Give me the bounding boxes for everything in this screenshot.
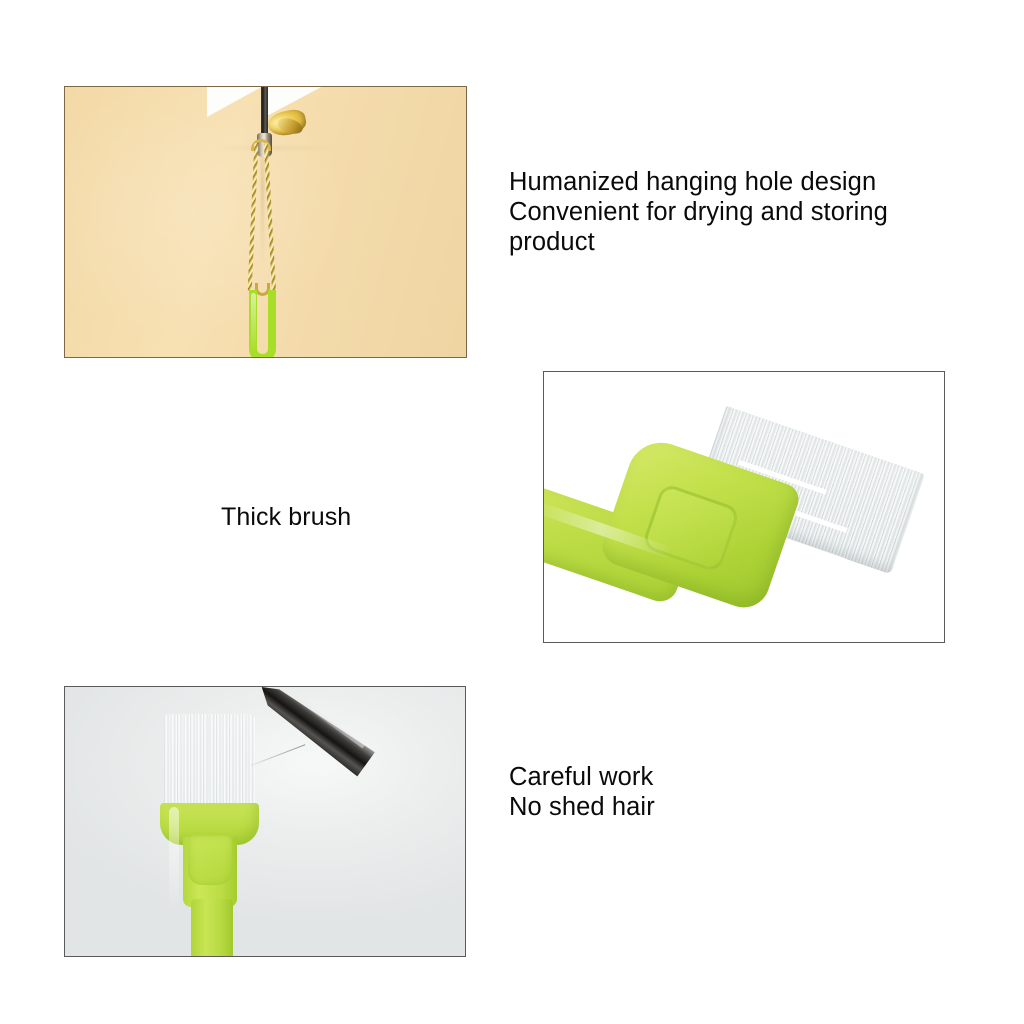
nail-shaft [261,86,268,139]
hanging-hole-highlight [251,293,256,351]
caption-careful-work: Careful work No shed hair [509,762,655,822]
upright-bristle-gap [207,716,211,800]
brush-head-photo [543,371,945,643]
infographic-canvas: Humanized hanging hole design Convenient… [0,0,1024,1024]
green-handle-shaft [191,899,233,957]
handle-highlight [169,807,179,907]
gray-studio-background [65,687,465,956]
no-shed-hair-photo [64,686,466,957]
handle-emboss-panel [188,835,232,885]
hanging-hole-photo [64,86,467,358]
white-wedge-left [207,86,265,117]
caption-thick-brush: Thick brush [221,502,351,532]
caption-hanging-hole: Humanized hanging hole design Convenient… [509,167,888,257]
wall-crease-secondary [215,147,335,149]
